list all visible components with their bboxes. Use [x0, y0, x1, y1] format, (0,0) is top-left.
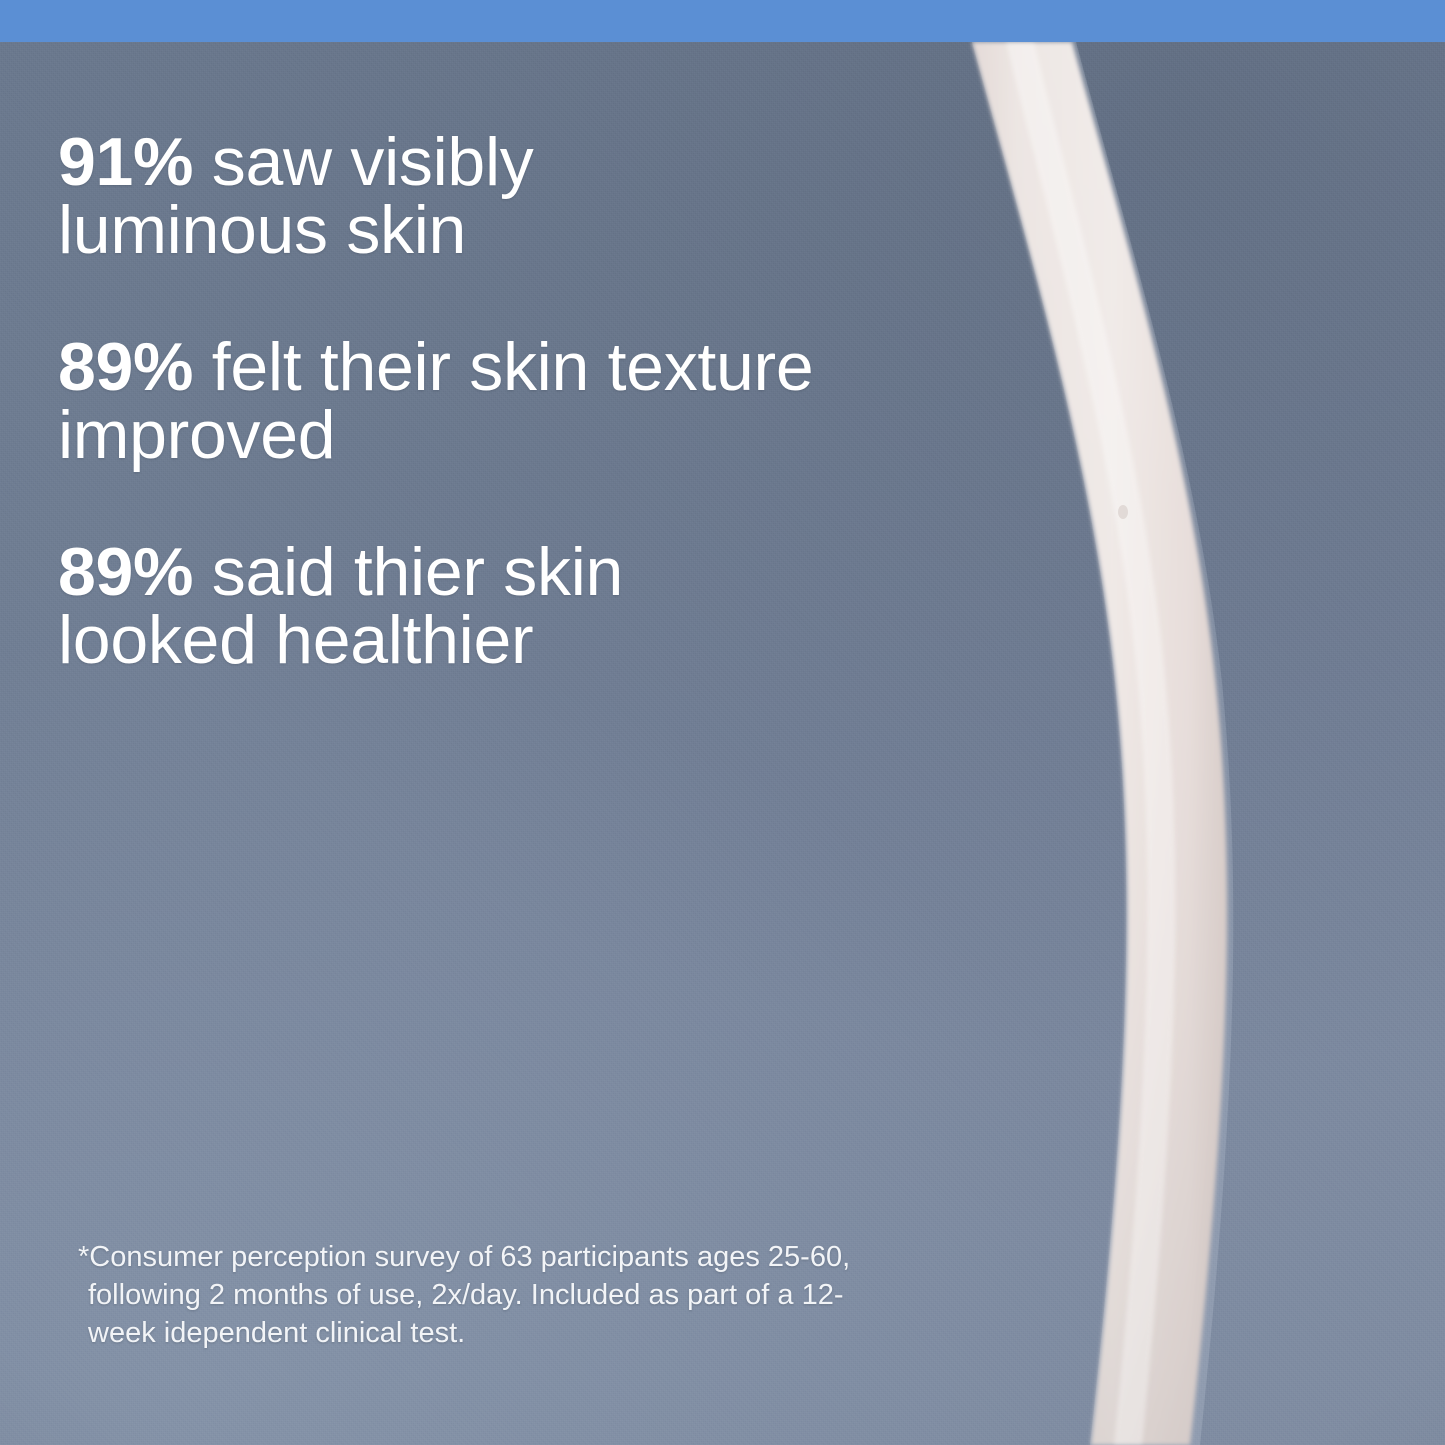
top-accent-bar	[0, 0, 1445, 42]
footnote-disclaimer: *Consumer perception survey of 63 partic…	[88, 1238, 908, 1352]
claims-list: 91% saw visibly luminous skin 89% felt t…	[58, 128, 818, 674]
claim-item: 89% said thier skin looked healthier	[58, 538, 818, 674]
claim-percent: 91%	[58, 124, 193, 200]
claim-item: 89% felt their skin texture improved	[58, 333, 818, 469]
marketing-claims-image: 91% saw visibly luminous skin 89% felt t…	[0, 0, 1445, 1445]
claim-item: 91% saw visibly luminous skin	[58, 128, 818, 264]
claim-percent: 89%	[58, 329, 193, 405]
claim-percent: 89%	[58, 534, 193, 610]
